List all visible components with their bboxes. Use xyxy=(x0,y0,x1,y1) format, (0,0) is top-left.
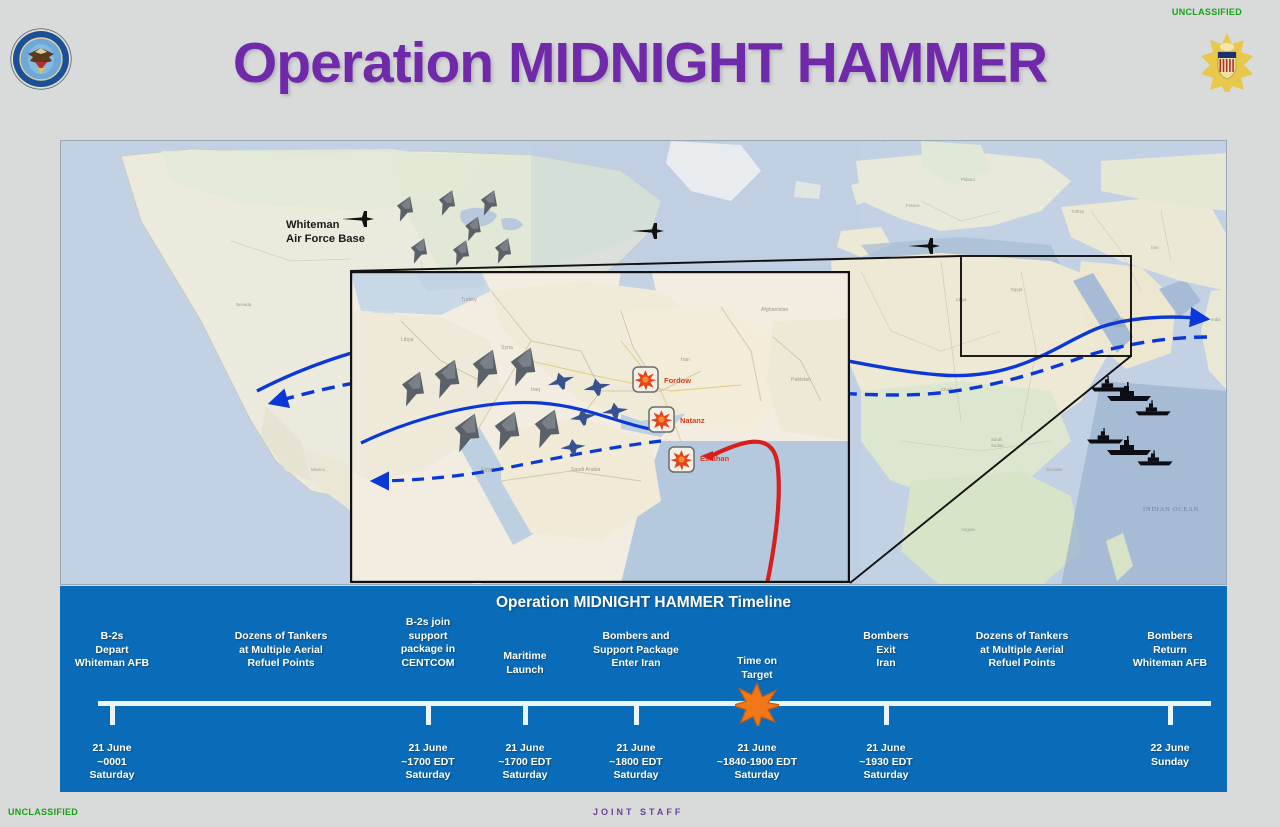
world-map-graphic: NORTH ATLANTIC OCEAN INDIAN OCEAN Nevada… xyxy=(61,141,1227,585)
svg-text:Libya: Libya xyxy=(401,337,414,343)
svg-text:India: India xyxy=(1211,317,1221,322)
timeline-tick xyxy=(523,706,528,725)
timeline-event-label: Dozens of Tankers at Multiple Aerial Ref… xyxy=(935,630,1110,671)
timeline-tick xyxy=(110,706,115,725)
svg-text:Poland: Poland xyxy=(961,177,975,182)
svg-text:France: France xyxy=(906,203,920,208)
time-on-target-burst-icon xyxy=(735,682,779,726)
timeline-event-date: 21 June ~1930 EDT Saturday xyxy=(806,742,966,783)
svg-text:Turkey: Turkey xyxy=(461,297,477,303)
timeline-title: Operation MIDNIGHT HAMMER Timeline xyxy=(60,594,1227,612)
timeline-tick xyxy=(634,706,639,725)
footer-organization: JOINT STAFF xyxy=(593,807,683,817)
svg-text:Somalia: Somalia xyxy=(1046,467,1062,472)
timeline-event-date: 21 June ~0001 Saturday xyxy=(32,742,192,783)
svg-text:INDIAN OCEAN: INDIAN OCEAN xyxy=(1143,506,1199,513)
svg-text:Sudan: Sudan xyxy=(991,443,1004,448)
page-title: Operation MIDNIGHT HAMMER xyxy=(0,30,1280,96)
svg-text:Iran: Iran xyxy=(1151,245,1159,250)
svg-text:Saudi Arabia: Saudi Arabia xyxy=(571,467,601,473)
svg-text:Whiteman: Whiteman xyxy=(286,219,340,231)
svg-text:Iran: Iran xyxy=(681,357,690,363)
timeline-event-label: Time on Target xyxy=(692,655,822,682)
svg-text:Angola: Angola xyxy=(961,527,975,532)
svg-text:Syria: Syria xyxy=(501,345,513,351)
timeline-event-label: B-2s Depart Whiteman AFB xyxy=(47,630,177,671)
timeline-event-date: 22 June Sunday xyxy=(1090,742,1250,769)
svg-text:South: South xyxy=(991,437,1003,442)
svg-text:Air Force Base: Air Force Base xyxy=(286,233,365,245)
svg-text:Natanz: Natanz xyxy=(680,416,705,425)
classification-marking-top: UNCLASSIFIED xyxy=(1172,7,1242,17)
timeline-axis xyxy=(98,701,1211,706)
svg-text:Nevada: Nevada xyxy=(236,302,252,307)
svg-text:Turkey: Turkey xyxy=(1071,209,1085,214)
timeline-event-label: Dozens of Tankers at Multiple Aerial Ref… xyxy=(194,630,369,671)
timeline-event-label: Bombers Exit Iran xyxy=(831,630,941,671)
svg-text:Afghanistan: Afghanistan xyxy=(761,307,789,313)
svg-text:Fordow: Fordow xyxy=(664,376,691,385)
classification-marking-bottom: UNCLASSIFIED xyxy=(8,807,78,817)
svg-text:Mexico: Mexico xyxy=(311,467,325,472)
svg-text:Iraq: Iraq xyxy=(531,387,540,393)
timeline-event-label: Bombers Return Whiteman AFB xyxy=(1103,630,1238,671)
svg-text:Pakistan: Pakistan xyxy=(791,377,811,383)
svg-text:Egypt: Egypt xyxy=(1011,287,1023,292)
operation-map-panel: NORTH ATLANTIC OCEAN INDIAN OCEAN Nevada… xyxy=(60,140,1227,585)
timeline-tick xyxy=(1168,706,1173,725)
timeline-tick xyxy=(884,706,889,725)
timeline-tick xyxy=(426,706,431,725)
svg-text:Spain: Spain xyxy=(881,141,893,142)
